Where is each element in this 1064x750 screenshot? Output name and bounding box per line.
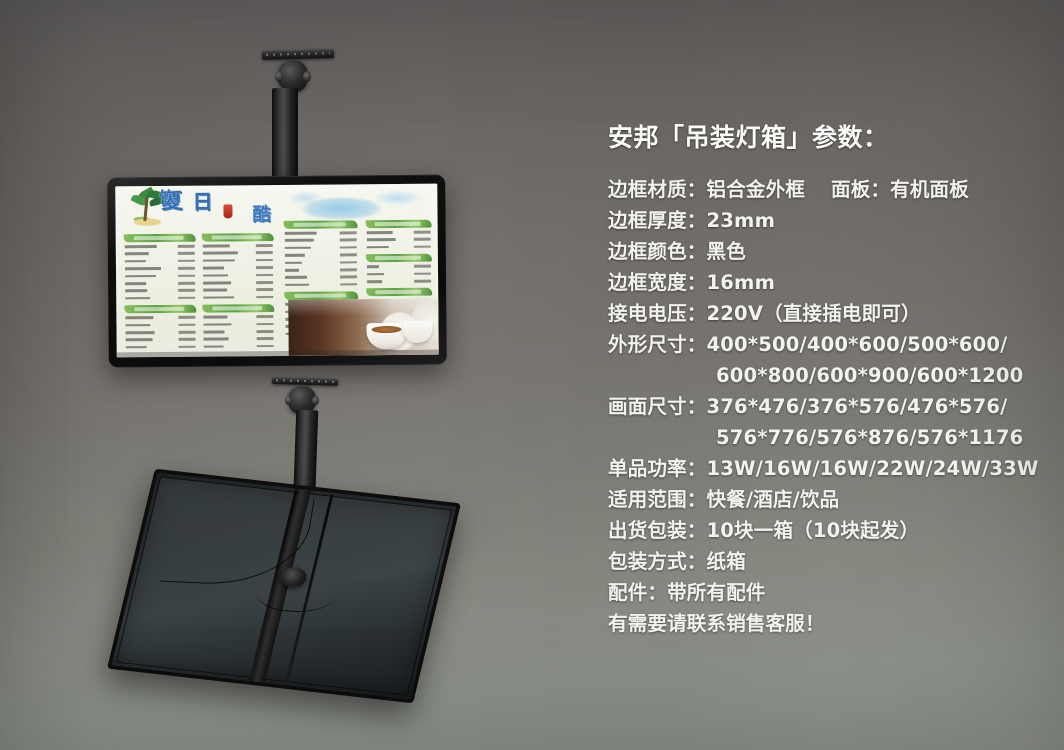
menu-item-price: [414, 265, 431, 268]
menu-section: [202, 233, 275, 301]
spec-line: 边框厚度：23mm: [608, 205, 1054, 236]
menu-item-row: [124, 295, 196, 302]
menu-item-name: [367, 246, 389, 249]
menu-item-name: [125, 260, 146, 263]
menu-item-price: [178, 267, 195, 270]
menu-item-price: [340, 283, 357, 286]
menu-section: [366, 220, 432, 251]
spec-line: 适用范围：快餐/酒店/饮品: [608, 484, 1054, 515]
spec-line: 边框颜色：黑色: [608, 236, 1054, 267]
menu-item-row: [202, 294, 274, 301]
menu-title-char-4: 饮: [159, 190, 175, 206]
menu-item-price: [414, 246, 431, 249]
menu-item-row: [366, 244, 432, 251]
menu-item-row: [202, 321, 274, 328]
menu-item-row: [284, 244, 358, 251]
spec-value: 有需要请联系销售客服！: [608, 612, 825, 635]
menu-item-row: [202, 265, 274, 272]
menu-item-name: [367, 265, 379, 268]
menu-item-row: [203, 328, 275, 335]
joint-knob-left: [275, 71, 283, 82]
joint-knob-right: [303, 71, 311, 82]
menu-item-price: [178, 323, 195, 326]
menu-item-price: [340, 276, 357, 279]
menu-item-row: [124, 314, 196, 321]
menu-item-row: [284, 259, 358, 266]
menu-title-accent: [223, 204, 232, 218]
menu-item-row: [202, 250, 274, 257]
spec-label: 画面尺寸：: [608, 395, 707, 418]
menu-item-row: [124, 258, 196, 265]
menu-item-price: [340, 231, 357, 234]
spec-label: 单品功率：: [608, 457, 707, 480]
menu-item-name: [125, 290, 147, 293]
lower-joint-knob-right: [312, 396, 319, 406]
menu-item-row: [366, 271, 432, 278]
menu-item-name: [125, 282, 146, 285]
spec-label: 边框厚度：: [608, 209, 707, 232]
menu-item-price: [256, 288, 273, 291]
spec-value: 400*500/400*600/500*600/: [707, 333, 1008, 356]
menu-item-name: [203, 259, 235, 262]
menu-item-price: [178, 282, 195, 285]
menu-item-name: [367, 231, 393, 234]
spec-line: 接电电压：220V（直接插电即可）: [608, 298, 1054, 329]
menu-item-name: [203, 252, 238, 255]
spec-line: 出货包装：10块一箱（10块起发）: [608, 515, 1054, 546]
menu-section-header: [366, 220, 432, 229]
menu-item-price: [256, 296, 273, 299]
menu-item-name: [125, 275, 156, 278]
menu-item-name: [367, 238, 396, 241]
menu-item-price: [179, 338, 196, 341]
menu-item-name: [126, 346, 147, 349]
spec-value: 10块一箱（10块起发）: [707, 519, 920, 542]
menu-item-name: [126, 331, 155, 334]
menu-item-name: [367, 273, 384, 276]
spec-value: 220V（直接插电即可）: [707, 302, 921, 325]
menu-item-price: [179, 345, 196, 348]
menu-item-row: [284, 252, 358, 259]
spec-label: 边框材质：: [608, 178, 707, 201]
menu-section-header: [366, 288, 432, 297]
menu-item-name: [367, 280, 382, 283]
spec-value: 带所有配件: [667, 581, 766, 604]
menu-item-price: [178, 274, 195, 277]
menu-section: [202, 304, 274, 350]
menu-section-header: [202, 233, 274, 242]
spec-value: 376*476/376*576/476*576/: [707, 395, 1008, 418]
menu-item-row: [124, 280, 196, 287]
light-box-front: 夏 日 酷 饮: [107, 175, 447, 368]
spec-value: 16mm: [707, 271, 776, 294]
spec-value: 23mm: [707, 209, 776, 232]
lower-mount-plate-icon: [272, 377, 338, 386]
menu-item-name: [125, 245, 157, 248]
spec-list: 边框材质：铝合金外框面板：有机面板边框厚度：23mm边框颜色：黑色边框宽度：16…: [608, 174, 1054, 639]
menu-item-price: [178, 245, 195, 248]
menu-section-header: [202, 304, 274, 313]
menu-item-name: [203, 289, 227, 292]
upper-extension-pole: [272, 88, 298, 184]
menu-item-row: [125, 336, 197, 343]
spec-label-secondary: 面板：: [831, 178, 890, 201]
menu-item-row: [124, 250, 196, 257]
menu-item-row: [124, 287, 196, 294]
menu-column-2: [202, 233, 275, 354]
menu-item-row: [284, 281, 358, 288]
menu-item-price: [340, 268, 357, 271]
menu-section-header: [284, 220, 358, 229]
menu-item-name: [285, 254, 305, 257]
spec-label: 边框宽度：: [608, 271, 707, 294]
menu-item-name: [285, 269, 299, 272]
menu-item-price: [257, 330, 274, 333]
menu-item-name: [204, 330, 225, 333]
menu-section: [124, 234, 197, 302]
spec-line: 有需要请联系销售客服！: [608, 608, 1054, 639]
menu-item-name: [125, 253, 149, 256]
menu-section-header: [366, 254, 432, 263]
menu-item-row: [366, 229, 432, 236]
lower-plate-screws: [276, 379, 334, 383]
spec-label: 配件：: [608, 581, 667, 604]
menu-item-row: [202, 257, 274, 264]
menu-item-row: [125, 329, 197, 336]
menu-item-price: [256, 274, 273, 277]
spec-line: 包装方式：纸箱: [608, 546, 1054, 577]
menu-item-row: [202, 242, 274, 249]
menu-item-row: [284, 237, 358, 244]
menu-item-price: [178, 289, 195, 292]
menu-item-name: [126, 338, 153, 341]
menu-item-name: [203, 281, 231, 284]
menu-item-price: [256, 252, 273, 255]
menu-item-name: [125, 316, 153, 319]
menu-item-row: [366, 236, 432, 243]
menu-section-header: [124, 234, 196, 243]
spec-line: 配件：带所有配件: [608, 577, 1054, 608]
spec-line-continuation: 576*776/576*876/576*1176: [608, 422, 1054, 453]
coffee-photo: [288, 299, 438, 356]
spec-text-block: 安邦「吊装灯箱」参数： 边框材质：铝合金外框面板：有机面板边框厚度：23mm边框…: [608, 118, 1054, 639]
spec-line: 边框材质：铝合金外框面板：有机面板: [608, 174, 1054, 205]
menu-item-price: [414, 280, 431, 283]
menu-item-price: [178, 252, 195, 255]
menu-item-name: [125, 267, 161, 270]
product-photo: 夏 日 酷 饮: [0, 0, 600, 750]
menu-item-price: [340, 239, 357, 242]
menu-item-price: [178, 316, 195, 319]
spec-value-secondary: 有机面板: [890, 178, 969, 201]
menu-column-1: [124, 234, 197, 355]
spec-label: 适用范围：: [608, 488, 707, 511]
spec-value: 铝合金外框: [707, 178, 806, 201]
menu-item-price: [340, 246, 357, 249]
menu-item-price: [414, 231, 431, 234]
menu-item-row: [366, 263, 432, 270]
menu-item-row: [284, 274, 358, 281]
menu-item-name: [204, 345, 224, 348]
spec-line: 单品功率：13W/16W/16W/22W/24W/33W: [608, 453, 1054, 484]
menu-item-price: [178, 260, 195, 263]
menu-item-row: [203, 343, 275, 350]
menu-item-price: [178, 297, 195, 300]
menu-item-row: [125, 344, 197, 351]
menu-column-4: [366, 220, 433, 308]
spec-value: 快餐/酒店/饮品: [707, 488, 840, 511]
menu-item-row: [366, 278, 432, 285]
menu-item-name: [125, 324, 150, 327]
menu-item-row: [202, 314, 274, 321]
menu-item-row: [124, 265, 196, 272]
menu-item-name: [285, 284, 309, 287]
spec-line: 画面尺寸：376*476/376*576/476*576/: [608, 391, 1054, 422]
spec-line: 外形尺寸：400*500/400*600/500*600/: [608, 329, 1054, 360]
menu-item-price: [340, 261, 357, 264]
spec-label: 边框颜色：: [608, 240, 707, 263]
menu-item-price: [414, 272, 431, 275]
menu-artwork: 夏 日 酷 饮: [115, 184, 438, 358]
menu-item-price: [256, 281, 273, 284]
menu-item-name: [285, 276, 307, 279]
menu-item-row: [203, 336, 275, 343]
lower-joint-knob-left: [285, 396, 292, 406]
menu-item-row: [284, 267, 358, 274]
menu-item-row: [202, 287, 274, 294]
menu-item-price: [256, 266, 273, 269]
menu-item-name: [203, 245, 230, 248]
menu-item-name: [285, 232, 317, 235]
menu-item-row: [124, 273, 196, 280]
spec-label: 出货包装：: [608, 519, 707, 542]
menu-item-price: [256, 259, 273, 262]
menu-title-char-2: 日: [192, 192, 212, 212]
menu-item-name: [203, 296, 234, 299]
menu-item-name: [285, 239, 314, 242]
menu-section: [284, 220, 359, 288]
product-spec-image: 夏 日 酷 饮: [0, 0, 1064, 750]
ceiling-mount-plate-icon: [262, 49, 334, 60]
menu-item-name: [285, 247, 311, 250]
menu-section: [366, 254, 432, 285]
spec-label: 外形尺寸：: [608, 333, 707, 356]
menu-item-row: [284, 230, 358, 237]
spec-label: 包装方式：: [608, 550, 707, 573]
menu-item-name: [125, 297, 150, 300]
coffee-cup-front: [366, 323, 406, 349]
menu-item-price: [257, 345, 274, 348]
menu-section: [124, 305, 196, 351]
spec-label: 接电电压：: [608, 302, 707, 325]
menu-item-price: [257, 337, 274, 340]
page-title: 安邦「吊装灯箱」参数：: [608, 118, 1054, 154]
menu-item-name: [203, 323, 231, 326]
menu-item-row: [202, 279, 274, 286]
coffee-cup-back: [402, 321, 432, 343]
spec-line: 边框宽度：16mm: [608, 267, 1054, 298]
menu-item-price: [179, 331, 196, 334]
menu-item-price: [256, 244, 273, 247]
menu-item-name: [203, 274, 228, 277]
menu-item-row: [202, 272, 274, 279]
menu-item-price: [340, 254, 357, 257]
menu-item-row: [124, 322, 196, 329]
menu-section-header: [124, 305, 196, 314]
menu-item-name: [203, 316, 227, 319]
spec-line-continuation: 600*800/600*900/600*1200: [608, 360, 1054, 391]
menu-item-price: [414, 238, 431, 241]
menu-item-row: [124, 243, 196, 250]
menu-title-char-3: 酷: [252, 206, 270, 224]
light-box-rear: [107, 469, 461, 704]
menu-item-name: [285, 261, 302, 264]
mount-plate-screws: [266, 52, 329, 56]
spec-value: 纸箱: [707, 550, 746, 573]
spec-value: 13W/16W/16W/22W/24W/33W: [707, 457, 1039, 480]
menu-item-name: [204, 338, 229, 341]
spec-value: 黑色: [707, 240, 746, 263]
menu-item-name: [203, 267, 224, 270]
menu-item-price: [256, 323, 273, 326]
menu-item-price: [256, 315, 273, 318]
